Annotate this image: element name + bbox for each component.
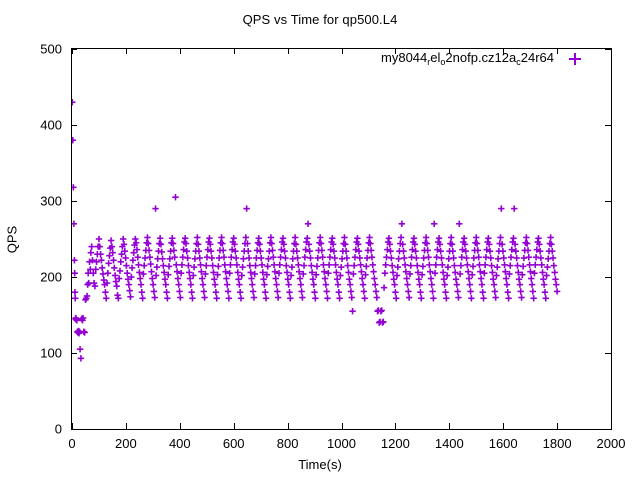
x-tick-label: 800 bbox=[277, 436, 299, 451]
y-tick-mark-right bbox=[605, 125, 611, 126]
y-axis-label: QPS bbox=[5, 210, 20, 270]
x-tick-mark bbox=[503, 423, 504, 429]
x-tick-mark-top bbox=[126, 48, 127, 54]
x-tick-mark bbox=[395, 423, 396, 429]
x-tick-mark-top bbox=[180, 48, 181, 54]
x-tick-label: 1800 bbox=[543, 436, 572, 451]
x-tick-mark-top bbox=[611, 48, 612, 54]
x-tick-label: 200 bbox=[115, 436, 137, 451]
y-tick-mark bbox=[71, 277, 77, 278]
y-tick-label: 100 bbox=[18, 346, 62, 361]
chart-title: QPS vs Time for qp500.L4 bbox=[0, 12, 640, 27]
x-tick-label: 0 bbox=[68, 436, 75, 451]
plot-area bbox=[71, 48, 612, 430]
x-tick-mark-top bbox=[72, 48, 73, 54]
y-tick-mark-right bbox=[605, 429, 611, 430]
x-tick-mark bbox=[449, 423, 450, 429]
x-tick-label: 600 bbox=[223, 436, 245, 451]
x-tick-label: 1600 bbox=[489, 436, 518, 451]
x-tick-mark bbox=[342, 423, 343, 429]
x-tick-mark bbox=[611, 423, 612, 429]
legend-series-label: my8044relo2nofp.cz12ac24r64 bbox=[381, 50, 554, 65]
y-tick-mark bbox=[71, 125, 77, 126]
chart-root: QPS vs Time for qp500.L4 010020030040050… bbox=[0, 0, 640, 480]
y-tick-mark-right bbox=[605, 201, 611, 202]
x-tick-label: 1000 bbox=[327, 436, 356, 451]
y-tick-label: 300 bbox=[18, 194, 62, 209]
x-tick-mark bbox=[126, 423, 127, 429]
x-tick-mark-top bbox=[234, 48, 235, 54]
x-tick-mark bbox=[180, 423, 181, 429]
y-tick-label: 200 bbox=[18, 270, 62, 285]
x-tick-label: 2000 bbox=[597, 436, 626, 451]
x-tick-label: 1400 bbox=[435, 436, 464, 451]
legend: my8044relo2nofp.cz12ac24r64 bbox=[320, 50, 590, 70]
y-tick-label: 400 bbox=[18, 118, 62, 133]
legend-plus-marker-icon bbox=[568, 52, 582, 66]
x-tick-mark-top bbox=[288, 48, 289, 54]
data-series-group bbox=[72, 99, 560, 362]
x-tick-label: 400 bbox=[169, 436, 191, 451]
y-tick-mark bbox=[71, 201, 77, 202]
x-tick-label: 1200 bbox=[381, 436, 410, 451]
y-tick-mark-right bbox=[605, 277, 611, 278]
y-tick-mark bbox=[71, 353, 77, 354]
scatter-points-layer bbox=[72, 49, 611, 429]
x-tick-mark bbox=[557, 423, 558, 429]
y-tick-label: 0 bbox=[18, 422, 62, 437]
y-tick-mark-right bbox=[605, 353, 611, 354]
x-tick-mark bbox=[72, 423, 73, 429]
x-axis-label: Time(s) bbox=[0, 457, 640, 472]
y-tick-label: 500 bbox=[18, 42, 62, 57]
y-tick-mark bbox=[71, 429, 77, 430]
x-tick-mark bbox=[288, 423, 289, 429]
x-tick-mark bbox=[234, 423, 235, 429]
